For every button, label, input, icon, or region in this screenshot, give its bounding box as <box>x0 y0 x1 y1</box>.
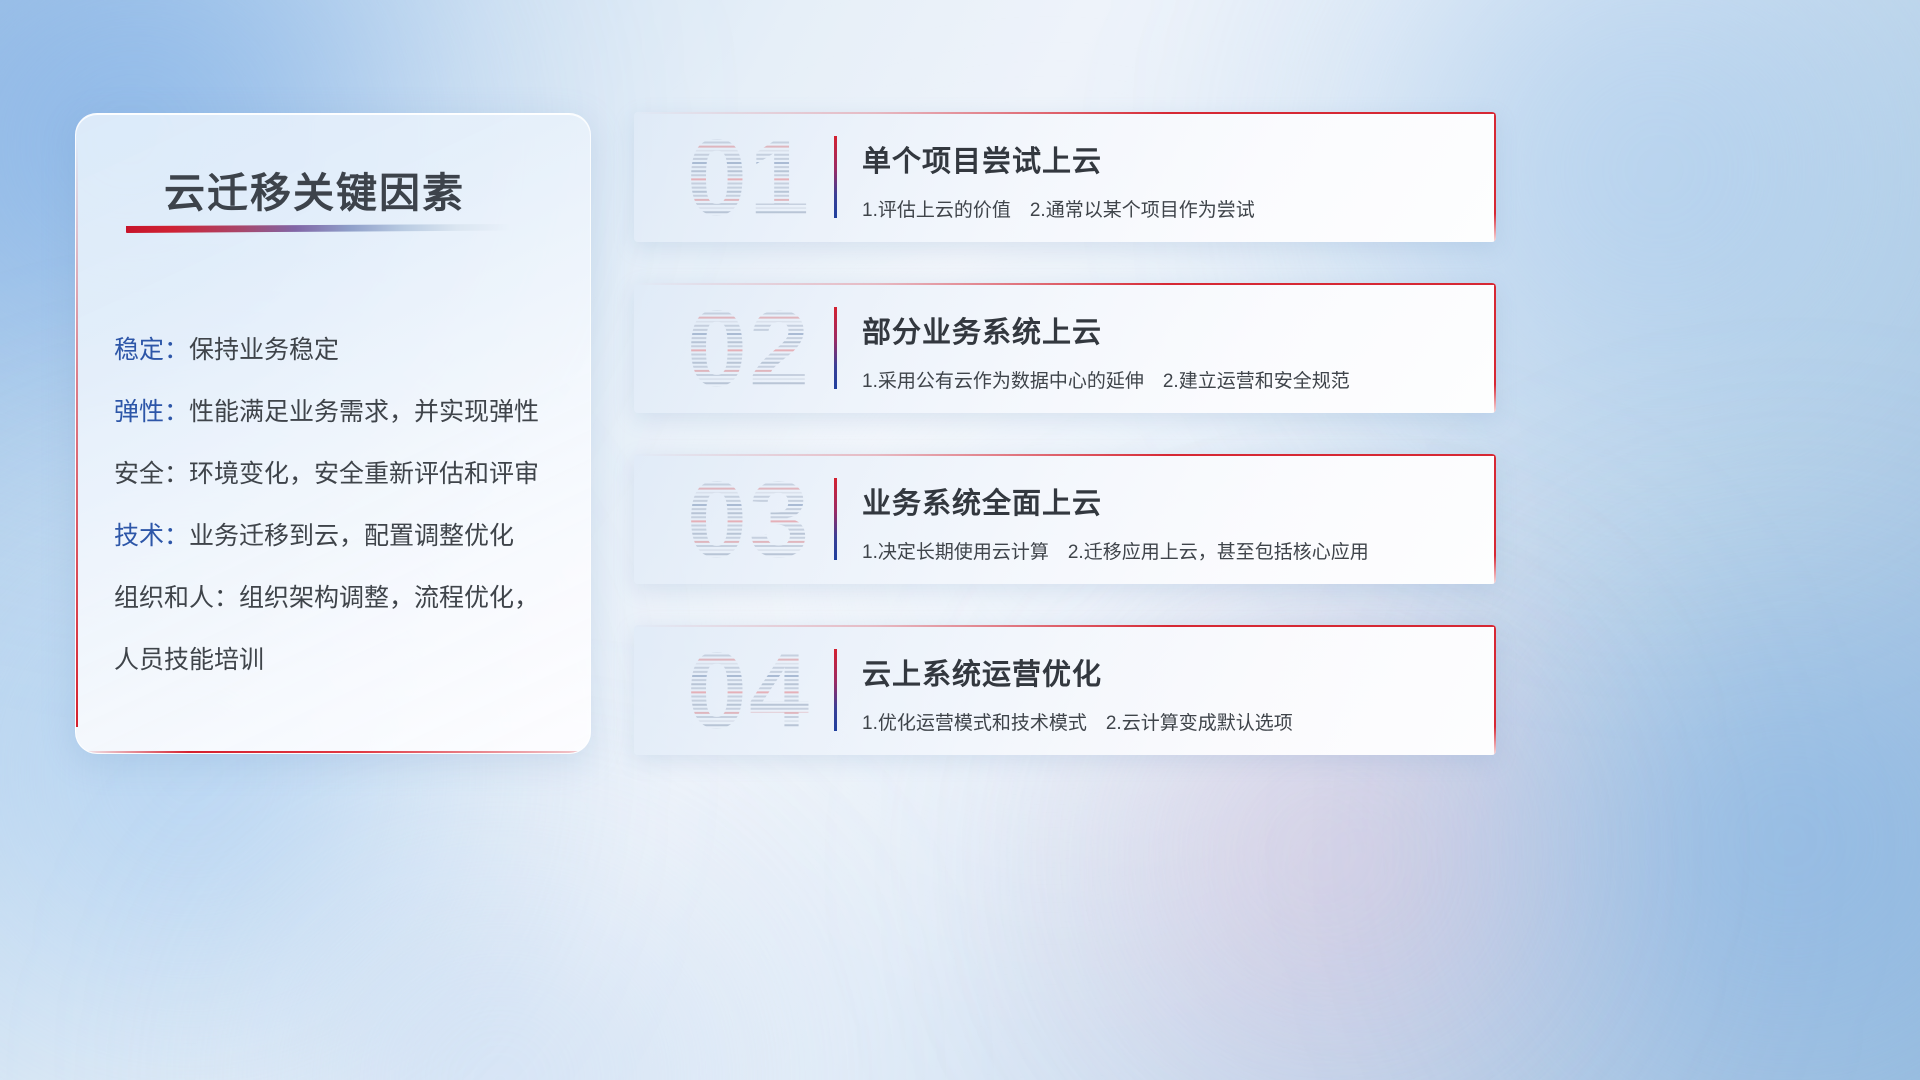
factor-continuation-text: 人员技能培训 <box>114 629 566 691</box>
factor-row: 安全：环境变化，安全重新评估和评审 <box>114 443 566 505</box>
stage-card-title: 云上系统运营优化 <box>862 651 1102 693</box>
stage-number-decoration: 02 <box>664 291 834 409</box>
factor-label: 弹性： <box>114 398 189 426</box>
stage-card[interactable]: 03业务系统全面上云1.决定长期使用云计算 2.迁移应用上云，甚至包括核心应用 <box>634 454 1496 584</box>
factor-label: 组织和人： <box>114 584 239 612</box>
factor-text: 保持业务稳定 <box>189 336 339 364</box>
stage-number-decoration: 03 <box>664 462 834 580</box>
factor-row: 技术：业务迁移到云，配置调整优化 <box>114 505 566 567</box>
title-underline-rule <box>126 224 511 233</box>
factor-text: 性能满足业务需求，并实现弹性 <box>189 398 539 426</box>
stage-number-decoration: 01 <box>664 120 834 238</box>
card-divider-bar <box>834 649 837 731</box>
stage-card-subtitle: 1.评估上云的价值 2.通常以某个项目作为尝试 <box>862 195 1255 222</box>
factor-row: 组织和人：组织架构调整，流程优化， <box>114 567 566 629</box>
factor-list: 稳定：保持业务稳定弹性：性能满足业务需求，并实现弹性安全：环境变化，安全重新评估… <box>114 319 566 691</box>
stage-card-subtitle: 1.决定长期使用云计算 2.迁移应用上云，甚至包括核心应用 <box>862 537 1369 564</box>
card-divider-bar <box>834 136 837 218</box>
factor-label: 安全： <box>114 460 189 488</box>
key-factors-panel: 云迁移关键因素 稳定：保持业务稳定弹性：性能满足业务需求，并实现弹性安全：环境变… <box>75 113 591 754</box>
stage-card-title: 业务系统全面上云 <box>862 480 1102 522</box>
slide-stage: 云迁移关键因素 稳定：保持业务稳定弹性：性能满足业务需求，并实现弹性安全：环境变… <box>0 0 1920 1080</box>
stage-card[interactable]: 02部分业务系统上云1.采用公有云作为数据中心的延伸 2.建立运营和安全规范 <box>634 283 1496 413</box>
page-title: 云迁移关键因素 <box>164 159 465 219</box>
stage-number-decoration: 04 <box>664 633 834 751</box>
stage-card-subtitle: 1.优化运营模式和技术模式 2.云计算变成默认选项 <box>862 708 1293 735</box>
factor-text: 组织架构调整，流程优化， <box>239 584 539 612</box>
factor-label: 稳定： <box>114 336 189 364</box>
card-divider-bar <box>834 307 837 389</box>
stage-card-title: 单个项目尝试上云 <box>862 138 1102 180</box>
factor-row: 稳定：保持业务稳定 <box>114 319 566 381</box>
factor-text: 环境变化，安全重新评估和评审 <box>189 460 539 488</box>
stage-card-list: 01单个项目尝试上云1.评估上云的价值 2.通常以某个项目作为尝试02部分业务系… <box>634 112 1496 796</box>
factor-row: 弹性：性能满足业务需求，并实现弹性 <box>114 381 566 443</box>
stage-card[interactable]: 01单个项目尝试上云1.评估上云的价值 2.通常以某个项目作为尝试 <box>634 112 1496 242</box>
stage-card[interactable]: 04云上系统运营优化1.优化运营模式和技术模式 2.云计算变成默认选项 <box>634 625 1496 755</box>
factor-label: 技术： <box>114 522 189 550</box>
stage-card-title: 部分业务系统上云 <box>862 309 1102 351</box>
card-divider-bar <box>834 478 837 560</box>
stage-card-subtitle: 1.采用公有云作为数据中心的延伸 2.建立运营和安全规范 <box>862 366 1350 393</box>
factor-text: 业务迁移到云，配置调整优化 <box>189 522 514 550</box>
